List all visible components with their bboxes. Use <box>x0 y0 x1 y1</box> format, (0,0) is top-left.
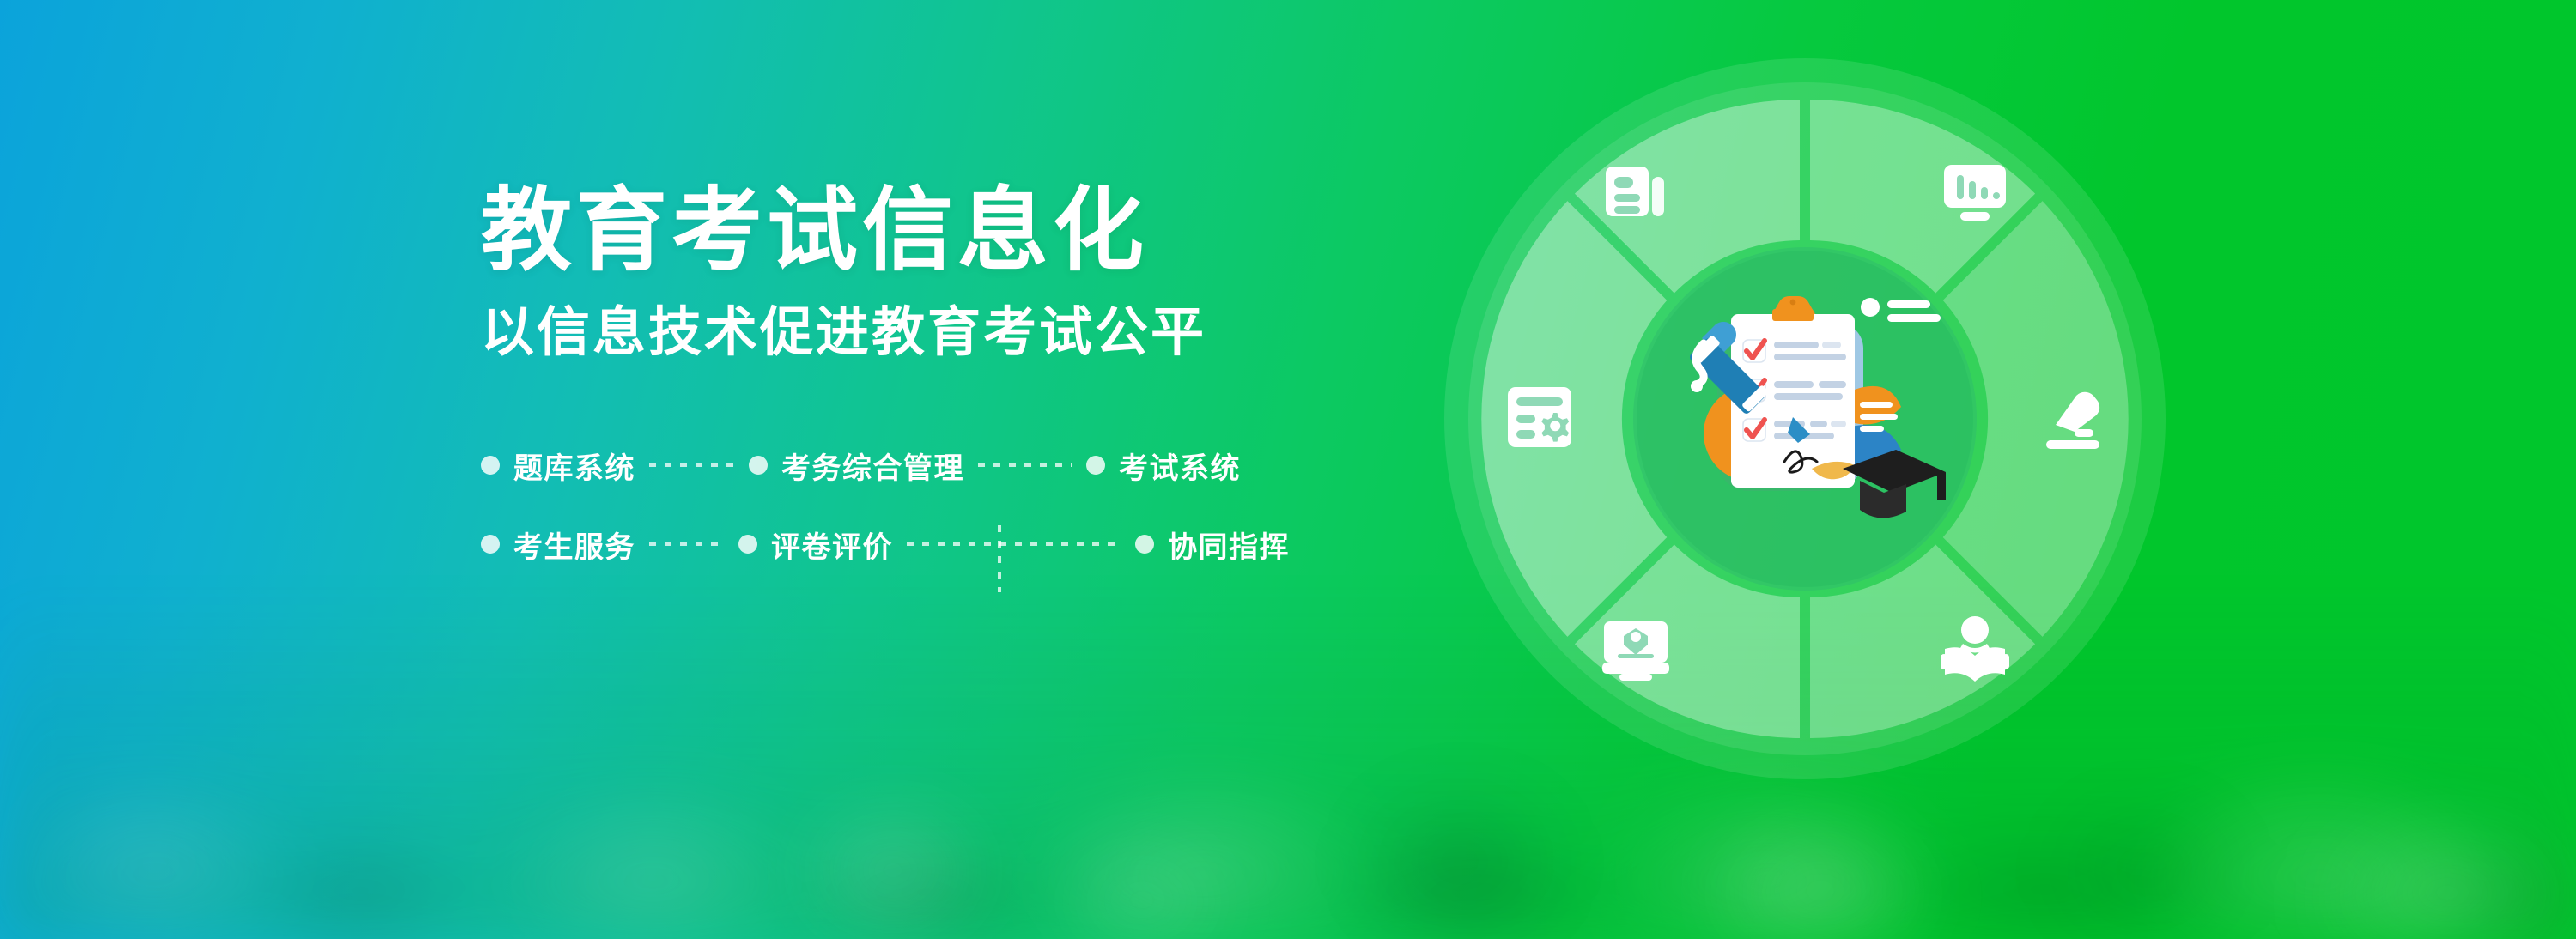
center-illustration <box>1683 283 1958 566</box>
banner-copy: 教育考试信息化 以信息技术促进教育考试公平 题库系统 考务综合管理 考试系统 <box>481 180 1254 571</box>
settings-list-icon <box>1503 380 1577 454</box>
feature-item-tiku[interactable]: 题库系统 <box>481 445 635 487</box>
feature-row-1: 题库系统 考务综合管理 考试系统 <box>481 439 1254 492</box>
feature-item-kaowu[interactable]: 考务综合管理 <box>749 445 964 487</box>
bullet-dot-icon <box>481 535 500 554</box>
monitor-pin-icon <box>1599 613 1673 687</box>
feature-item-kaosheng[interactable]: 考生服务 <box>481 524 635 566</box>
dashed-vertical-connector <box>998 525 1001 592</box>
dashed-connector <box>907 542 1121 546</box>
dashed-connector <box>649 463 735 467</box>
bullet-dot-icon <box>1135 535 1154 554</box>
page-subtitle: 以信息技术促进教育考试公平 <box>481 301 1254 365</box>
feature-list: 题库系统 考务综合管理 考试系统 考生服务 <box>481 439 1254 571</box>
bullet-dot-icon <box>481 456 500 475</box>
dashed-connector <box>978 463 1072 467</box>
feature-label: 题库系统 <box>513 445 635 487</box>
feature-item-xietong[interactable]: 协同指挥 <box>1135 524 1290 566</box>
feature-label: 考试系统 <box>1119 445 1241 487</box>
feature-label: 考生服务 <box>513 524 635 566</box>
feature-label: 考务综合管理 <box>781 445 964 487</box>
bullet-dot-icon <box>1086 456 1105 475</box>
feature-label: 协同指挥 <box>1168 524 1290 566</box>
eraser-stamp-icon <box>2037 380 2111 454</box>
feature-item-kaoshi[interactable]: 考试系统 <box>1086 445 1241 487</box>
person-reading-book-icon <box>1938 613 2012 687</box>
blurred-crowd-background <box>0 579 2576 939</box>
documents-icon <box>1599 154 1673 228</box>
dashed-connector <box>649 542 725 546</box>
feature-item-pingjuan[interactable]: 评卷评价 <box>738 524 893 566</box>
page-title: 教育考试信息化 <box>481 180 1254 282</box>
feature-row-2: 考生服务 评卷评价 协同指挥 <box>481 518 1254 571</box>
feature-label: 评卷评价 <box>771 524 893 566</box>
bullet-dot-icon <box>738 535 757 554</box>
bullet-dot-icon <box>749 456 768 475</box>
bullet-dot-icon <box>1861 298 1880 317</box>
hero-banner: 教育考试信息化 以信息技术促进教育考试公平 题库系统 考务综合管理 考试系统 <box>0 0 2576 939</box>
bar-chart-monitor-icon <box>1938 154 2012 228</box>
